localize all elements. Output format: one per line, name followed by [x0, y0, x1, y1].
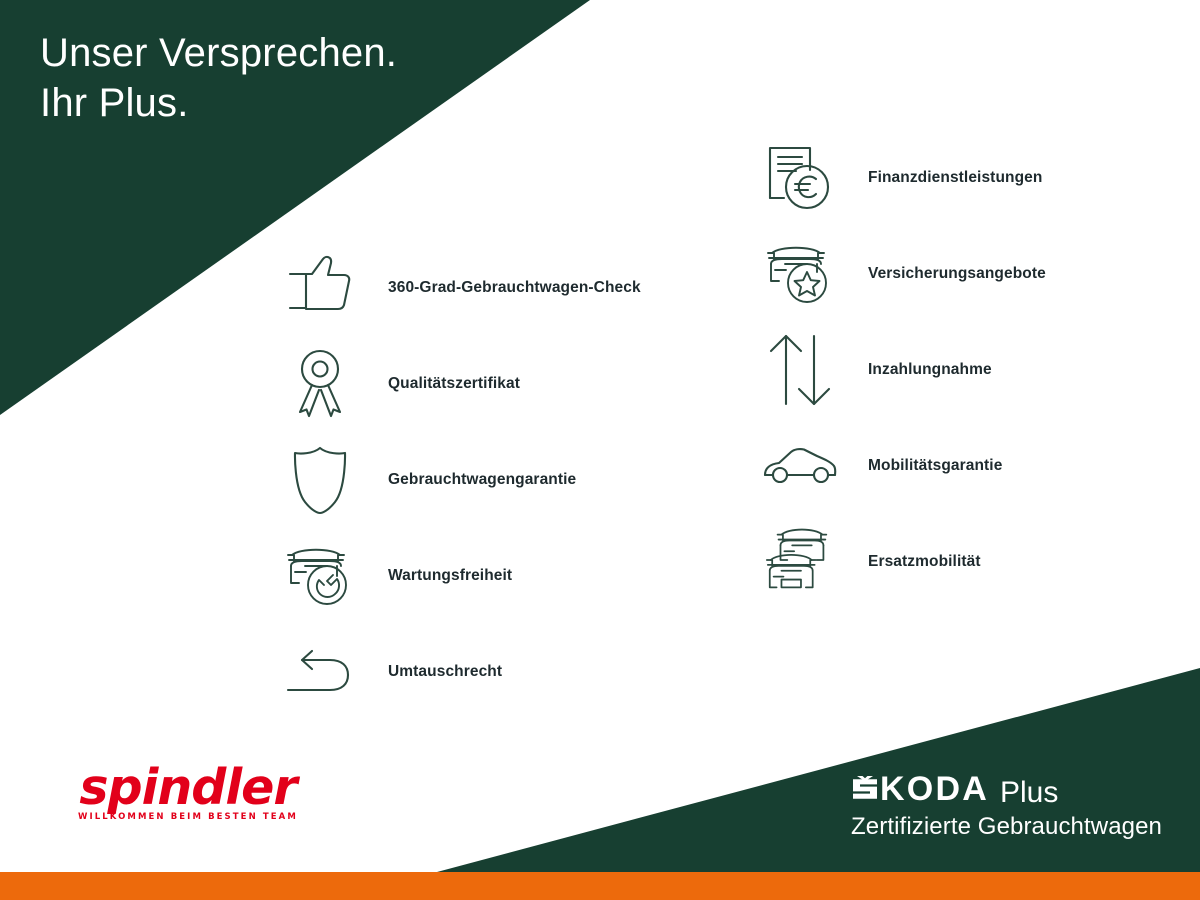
feature-item: Finanzdienstleistungen	[760, 130, 1180, 226]
feature-item: Qualitätszertifikat	[280, 336, 700, 432]
feature-label: 360-Grad-Gebrauchtwagen-Check	[388, 279, 641, 297]
car-wrench-icon	[280, 536, 360, 616]
feature-label: Qualitätszertifikat	[388, 375, 520, 393]
feature-label: Umtauschrecht	[388, 663, 502, 681]
feature-item: Gebrauchtwagengarantie	[280, 432, 700, 528]
feature-column-right: Finanzdienstleistungen Versich	[760, 130, 1180, 610]
two-cars-icon	[760, 522, 840, 602]
feature-item: Ersatzmobilität	[760, 514, 1180, 610]
brand-logo-plus: Plus	[1000, 778, 1058, 808]
document-euro-icon	[760, 138, 840, 218]
return-arrow-icon	[280, 632, 360, 712]
feature-item: Wartungsfreiheit	[280, 528, 700, 624]
dealer-logo: spindler WILLKOMMEN BEIM BESTEN TEAM	[78, 762, 298, 822]
feature-label: Ersatzmobilität	[868, 553, 981, 571]
feature-column-left: 360-Grad-Gebrauchtwagen-Check Qualitätsz…	[280, 240, 700, 720]
dealer-logo-wordmark: spindler	[78, 762, 298, 814]
feature-label: Wartungsfreiheit	[388, 567, 512, 585]
feature-item: Inzahlungnahme	[760, 322, 1180, 418]
up-down-arrows-icon	[760, 330, 840, 410]
brand-logo-line1: KODA Plus	[851, 772, 1162, 810]
feature-item: Mobilitätsgarantie	[760, 418, 1180, 514]
shield-icon	[280, 440, 360, 520]
feature-item: Umtauschrecht	[280, 624, 700, 720]
page-title: Unser Versprechen. Ihr Plus.	[40, 28, 397, 128]
feature-item: Versicherungsangebote	[760, 226, 1180, 322]
feature-label: Finanzdienstleistungen	[868, 169, 1042, 187]
promo-banner: Unser Versprechen. Ihr Plus. 360-Grad-Ge…	[0, 0, 1200, 900]
brand-logo-subtitle: Zertifizierte Gebrauchtwagen	[851, 812, 1162, 842]
feature-item: 360-Grad-Gebrauchtwagen-Check	[280, 240, 700, 336]
car-star-icon	[760, 234, 840, 314]
dealer-logo-tagline: WILLKOMMEN BEIM BESTEN TEAM	[78, 812, 298, 822]
feature-label: Gebrauchtwagengarantie	[388, 471, 576, 489]
thumbs-up-icon	[280, 248, 360, 328]
feature-label: Mobilitätsgarantie	[868, 457, 1002, 475]
skoda-s-glyph	[851, 776, 879, 802]
award-rosette-icon	[280, 344, 360, 424]
feature-label: Inzahlungnahme	[868, 361, 992, 379]
brand-logo-koda-text: KODA	[880, 772, 989, 806]
side-car-icon	[760, 426, 840, 506]
brand-logo-wordmark: KODA	[851, 772, 989, 806]
orange-bottom-bar	[0, 872, 1200, 900]
brand-logo: KODA Plus Zertifizierte Gebrauchtwagen	[851, 772, 1162, 842]
feature-label: Versicherungsangebote	[868, 265, 1046, 283]
